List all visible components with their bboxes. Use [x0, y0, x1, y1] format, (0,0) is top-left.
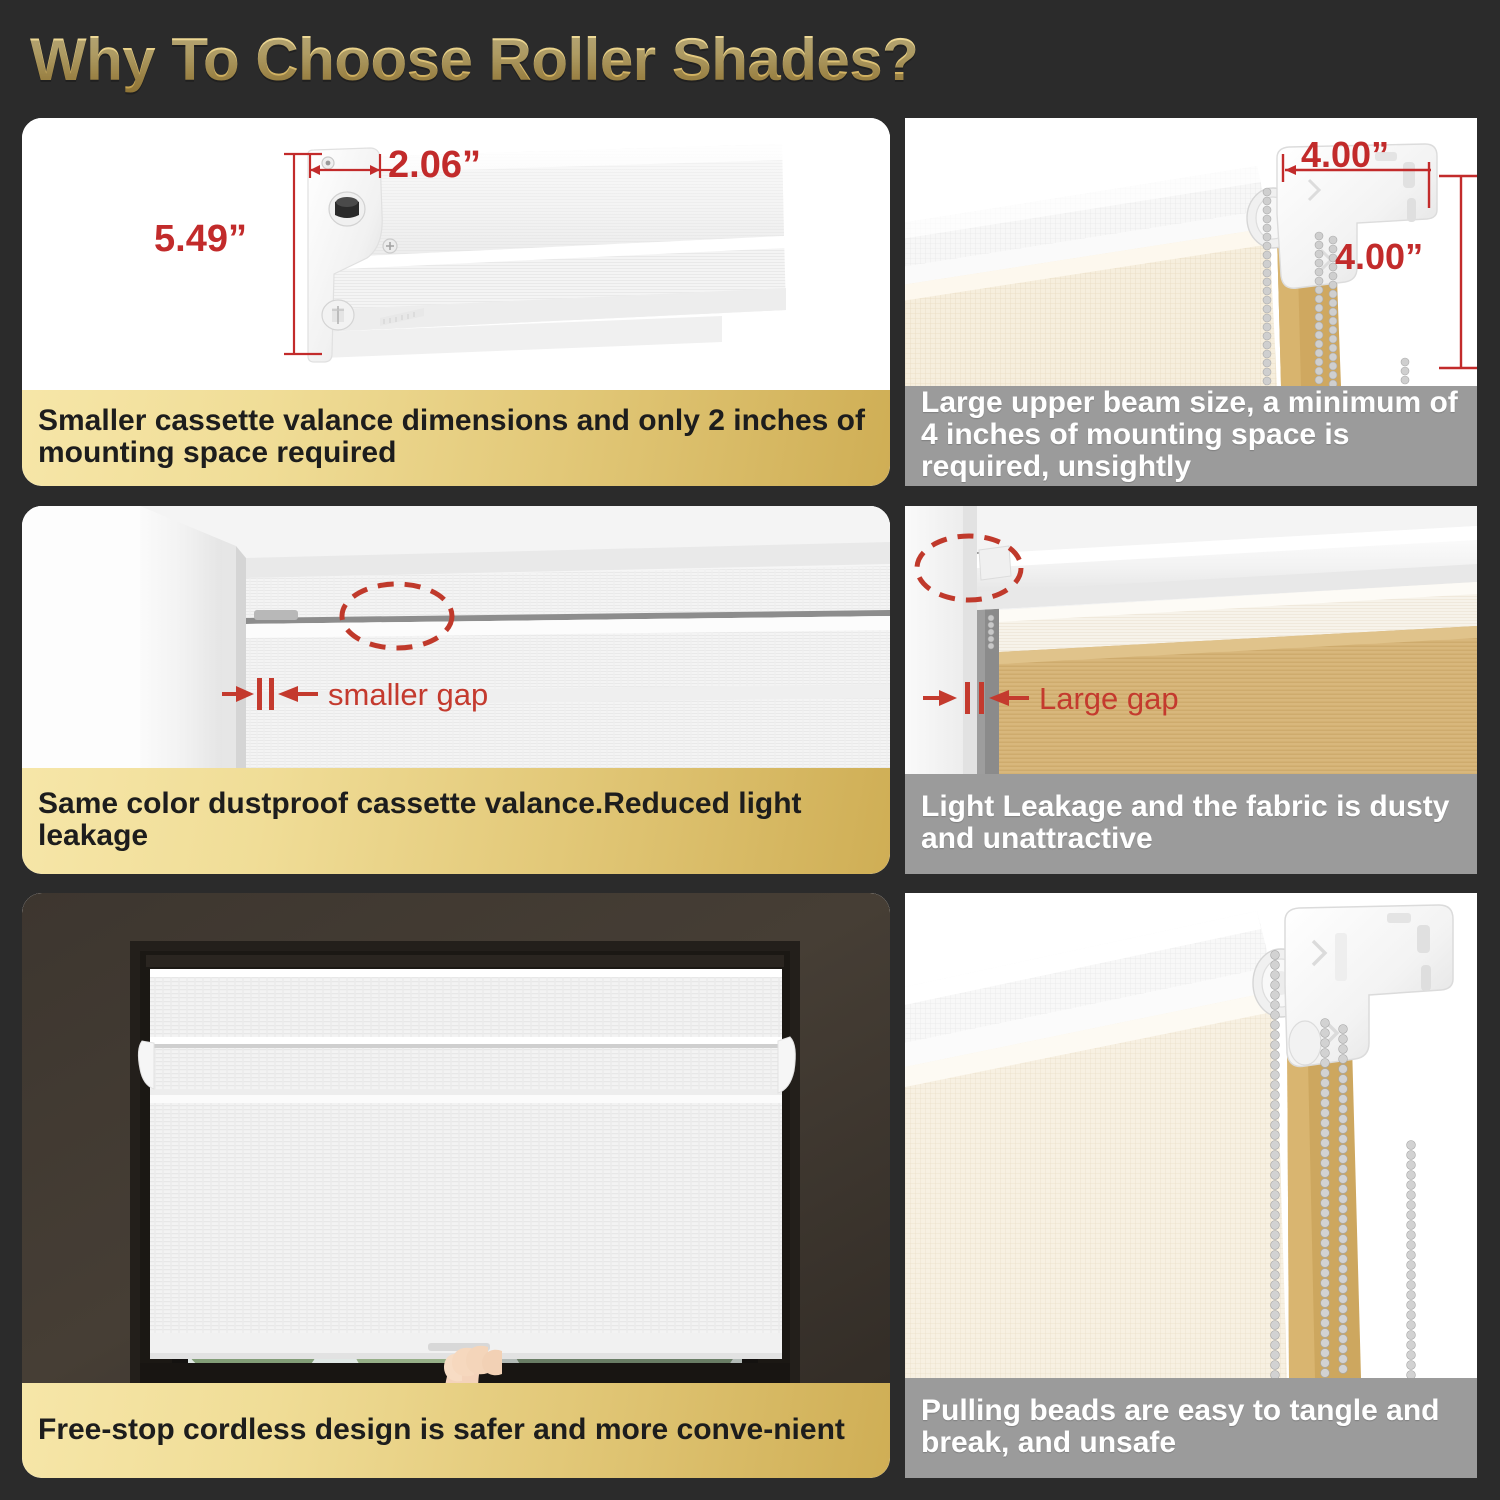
photo-large-roller-bracket: 4.00” 4.00”: [905, 118, 1477, 386]
window-scene-illustration: [22, 893, 890, 1383]
caption-text: Pulling beads are easy to tangle and bre…: [921, 1395, 1463, 1459]
panel-large-upper-beam: 4.00” 4.00” Large upper beam size, a min…: [905, 118, 1477, 486]
caption-text: Free-stop cordless design is safer and m…: [38, 1414, 845, 1446]
window-frame-closeup-illustration: [22, 506, 890, 768]
caption-bar-panel-6: Pulling beads are easy to tangle and bre…: [905, 1378, 1477, 1478]
photo-exposed-roller-large-gap: Large gap: [905, 506, 1477, 774]
photo-cassette-valance-side-view: 2.06” 5.49”: [22, 118, 890, 390]
photo-shade-in-window-frame: smaller gap: [22, 506, 890, 768]
caption-text: Light Leakage and the fabric is dusty an…: [921, 791, 1463, 855]
panel-smaller-cassette: 2.06” 5.49” Smaller cassette valance dim…: [22, 118, 890, 486]
dimension-label-height: 5.49”: [154, 218, 247, 261]
caption-text: Large upper beam size, a minimum of 4 in…: [921, 387, 1463, 482]
exposed-roller-illustration: [905, 506, 1477, 774]
caption-bar-panel-1: Smaller cassette valance dimensions and …: [22, 390, 890, 486]
bead-chain-shade-illustration: [905, 893, 1477, 1378]
panel-dustproof-valance: smaller gap Same color dustproof cassett…: [22, 506, 890, 874]
photo-hand-pulling-shade: [22, 893, 890, 1383]
panel-light-leakage: Large gap Light Leakage and the fabric i…: [905, 506, 1477, 874]
caption-bar-panel-5: Free-stop cordless design is safer and m…: [22, 1383, 890, 1478]
panel-cordless-design: Free-stop cordless design is safer and m…: [22, 893, 890, 1478]
gap-label-smaller: smaller gap: [328, 677, 488, 713]
header: Why To Choose Roller Shades?: [30, 22, 1130, 98]
panel-pulling-beads: Pulling beads are easy to tangle and bre…: [905, 893, 1477, 1478]
gap-label-large: Large gap: [1039, 681, 1179, 717]
photo-beige-shade-bead-chains: [905, 893, 1477, 1378]
caption-bar-panel-4: Light Leakage and the fabric is dusty an…: [905, 774, 1477, 874]
dimension-label-width: 2.06”: [388, 144, 481, 187]
dimension-label-width: 4.00”: [1301, 134, 1389, 176]
caption-text: Smaller cassette valance dimensions and …: [38, 405, 876, 469]
page-title: Why To Choose Roller Shades?: [30, 22, 1130, 98]
dimension-label-height: 4.00”: [1335, 236, 1423, 278]
caption-text: Same color dustproof cassette valance.Re…: [38, 788, 876, 852]
caption-bar-panel-2: Large upper beam size, a minimum of 4 in…: [905, 386, 1477, 486]
caption-bar-panel-3: Same color dustproof cassette valance.Re…: [22, 768, 890, 874]
